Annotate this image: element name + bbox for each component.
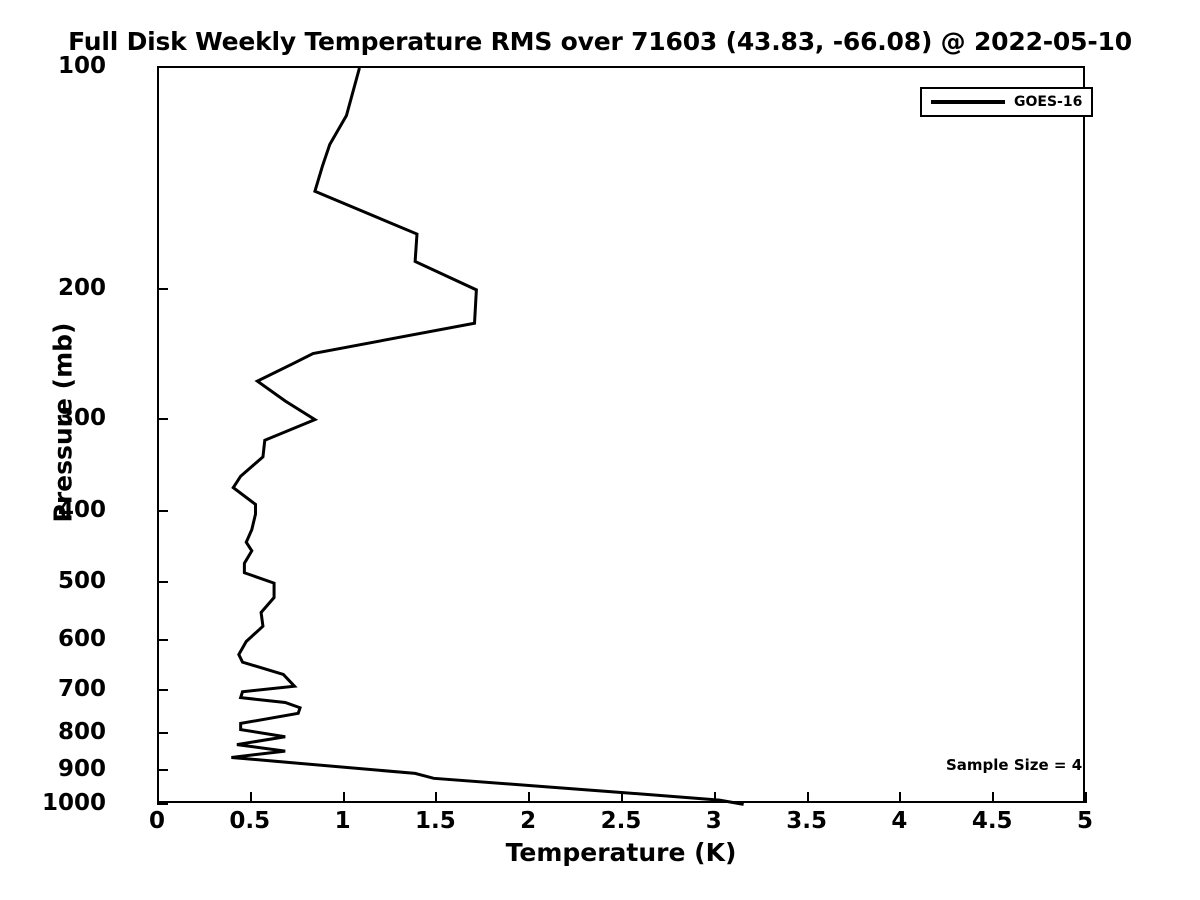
x-tick-label-0: 0 [149, 808, 165, 834]
x-axis-title: Temperature (K) [157, 838, 1085, 867]
legend-label-goes-16: GOES-16 [1014, 94, 1082, 110]
x-tick-label-0-5: 0.5 [229, 808, 270, 834]
x-tick-label-2: 2 [520, 808, 536, 834]
y-tick-label-300: 300 [58, 405, 106, 431]
y-tick-label-400: 400 [58, 497, 106, 523]
y-tick-label-1000: 1000 [42, 790, 106, 816]
x-tick-label-1: 1 [335, 808, 351, 834]
data-line-goes-16 [231, 68, 743, 804]
x-tick-label-4: 4 [891, 808, 907, 834]
y-tick-label-200: 200 [58, 275, 106, 301]
legend[interactable]: GOES-16 [920, 87, 1093, 117]
y-tick-label-900: 900 [58, 756, 106, 782]
chart-title: Full Disk Weekly Temperature RMS over 71… [0, 27, 1200, 56]
y-tick-label-700: 700 [58, 676, 106, 702]
plot-area [157, 66, 1085, 803]
chart-figure: Full Disk Weekly Temperature RMS over 71… [0, 0, 1200, 900]
x-tick-label-3: 3 [706, 808, 722, 834]
sample-size-annotation: Sample Size = 4 [946, 756, 1082, 774]
x-tick-label-1-5: 1.5 [415, 808, 456, 834]
data-series-canvas [159, 68, 1087, 805]
x-tick-label-5: 5 [1077, 808, 1093, 834]
y-tick-label-500: 500 [58, 568, 106, 594]
x-tick-label-3-5: 3.5 [786, 808, 827, 834]
x-tick-label-4-5: 4.5 [972, 808, 1013, 834]
y-tick-label-100: 100 [58, 53, 106, 79]
legend-line-swatch [931, 100, 1005, 104]
x-tick-label-2-5: 2.5 [601, 808, 642, 834]
y-tick-label-600: 600 [58, 626, 106, 652]
y-tick-label-800: 800 [58, 719, 106, 745]
